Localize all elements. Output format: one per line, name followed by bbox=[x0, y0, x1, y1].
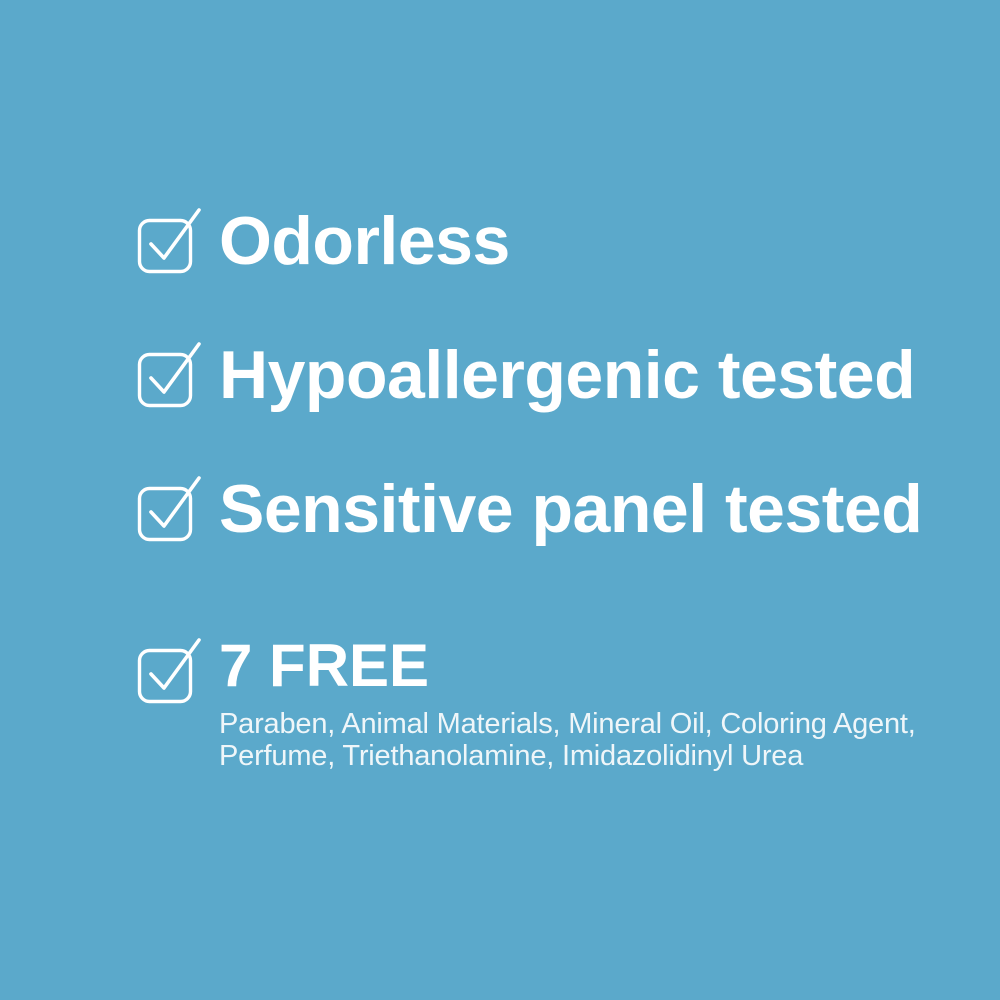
feature-claims-poster: Odorless Hypoallergenic tested bbox=[0, 0, 1000, 1000]
checkbox-checked-icon bbox=[137, 208, 203, 274]
feature-label: 7 FREE bbox=[219, 634, 916, 698]
feature-label: Sensitive panel tested bbox=[219, 472, 922, 546]
feature-text-wrap: Odorless bbox=[203, 204, 510, 278]
feature-text-wrap: Sensitive panel tested bbox=[203, 472, 922, 546]
feature-label: Odorless bbox=[219, 204, 510, 278]
feature-row: Hypoallergenic tested bbox=[137, 338, 915, 412]
feature-text-wrap: Hypoallergenic tested bbox=[203, 338, 915, 412]
feature-list: Odorless Hypoallergenic tested bbox=[0, 0, 1000, 1000]
checkbox-checked-icon bbox=[137, 638, 203, 704]
free-from-ingredient-line: Perfume, Triethanolamine, Imidazolidinyl… bbox=[219, 740, 916, 772]
feature-row: 7 FREE Paraben, Animal Materials, Minera… bbox=[137, 634, 916, 772]
checkbox-checked-icon bbox=[137, 342, 203, 408]
feature-label: Hypoallergenic tested bbox=[219, 338, 915, 412]
free-from-ingredient-list: Paraben, Animal Materials, Mineral Oil, … bbox=[219, 708, 916, 772]
feature-text-wrap: 7 FREE Paraben, Animal Materials, Minera… bbox=[203, 634, 916, 772]
feature-row: Sensitive panel tested bbox=[137, 472, 922, 546]
free-from-ingredient-line: Paraben, Animal Materials, Mineral Oil, … bbox=[219, 708, 916, 740]
checkbox-checked-icon bbox=[137, 476, 203, 542]
feature-row: Odorless bbox=[137, 204, 510, 278]
